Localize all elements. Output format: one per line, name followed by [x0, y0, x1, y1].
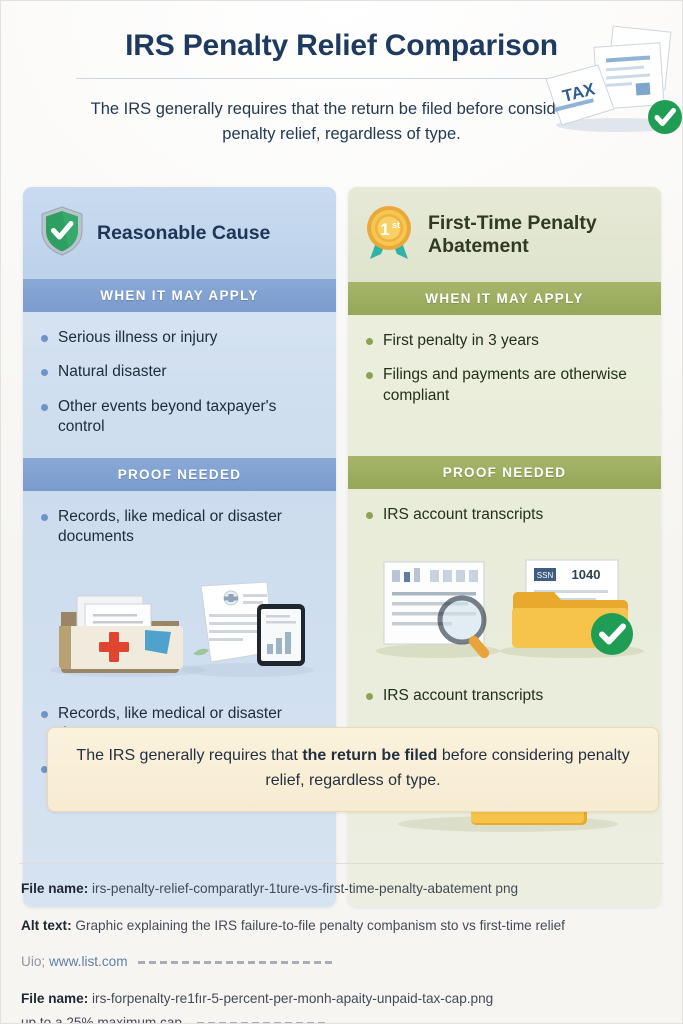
column-header-reasonable-cause: Reasonable Cause [23, 187, 336, 279]
list-proof-left-top: Records, like medical or disaster docume… [23, 491, 336, 568]
band-proof-needed-left: PROOF NEEDED [23, 458, 336, 491]
bullet-dot-icon [41, 404, 48, 411]
list-item-label: Filings and payments are otherwise compl… [383, 365, 643, 406]
page-title: IRS Penalty Relief Comparison [1, 29, 682, 64]
bullet-dot-icon [366, 693, 373, 700]
bullet-dot-icon [41, 711, 48, 718]
svg-text:1040: 1040 [572, 567, 601, 582]
list-item: First penalty in 3 years [366, 331, 643, 351]
file-name-value: irs-penalty-relief-comparatlyr-1ture-vs-… [92, 881, 518, 896]
band-when-it-may-apply-right: WHEN IT MAY APPLY [348, 282, 661, 315]
metadata-file-name-row-2: File name: irs-forpenalty-re1fır-5-perce… [21, 989, 662, 1024]
list-item: Records, like medical or disaster docume… [41, 507, 318, 548]
bullet-dot-icon [41, 369, 48, 376]
bullet-dot-icon [366, 512, 373, 519]
list-item: Other events beyond taxpayer's control [41, 397, 318, 438]
list-item: IRS account transcripts [366, 505, 643, 525]
header-subtitle: The IRS generally requires that the retu… [72, 97, 612, 148]
list-item-label: IRS account transcripts [383, 686, 543, 706]
alt-text-label: Alt text: [21, 918, 72, 933]
band-when-it-may-apply-left: WHEN IT MAY APPLY [23, 279, 336, 312]
band-proof-needed-right: PROOF NEEDED [348, 456, 661, 489]
medical-records-illustration [33, 570, 326, 678]
list-proof-right-top: IRS account transcripts [348, 489, 661, 545]
metadata-url-row: Uio; www.list.com [21, 952, 662, 972]
column-title-first-time-abatement: First-Time Penalty Abatement [428, 212, 647, 258]
column-title-reasonable-cause: Reasonable Cause [97, 222, 270, 245]
footer-divider [19, 863, 664, 864]
list-item-label: First penalty in 3 years [383, 331, 539, 351]
list-item-label: Natural disaster [58, 362, 167, 382]
redacted-dashes [138, 961, 334, 964]
callout-text-before: The IRS generally requires that [76, 747, 302, 764]
svg-text:SSN: SSN [537, 571, 554, 580]
infographic-header: IRS Penalty Relief Comparison The IRS ge… [1, 1, 682, 148]
first-place-ribbon-icon: 1 st [364, 203, 416, 266]
svg-text:1: 1 [380, 220, 389, 239]
bullet-dot-icon [41, 335, 48, 342]
alt-text-value: Graphic explaining the IRS failure-to-fi… [75, 918, 565, 933]
shield-check-icon [39, 205, 85, 262]
file-name-label-2: File name: [21, 991, 88, 1006]
column-header-first-time-abatement: 1 st First-Time Penalty Abatement [348, 187, 661, 282]
infographic-canvas: IRS Penalty Relief Comparison The IRS ge… [0, 0, 683, 1024]
file-name-label: File name: [21, 881, 88, 896]
list-item: Filings and payments are otherwise compl… [366, 365, 643, 406]
file-name-sub-2: up to a 25% maximum cap. [21, 1015, 186, 1024]
list-item-label: Serious illness or injury [58, 328, 217, 348]
metadata-alt-text-row: Alt text: Graphic explaining the IRS fai… [21, 916, 662, 936]
list-item: Natural disaster [41, 362, 318, 382]
url-label: Uio; [21, 954, 45, 969]
svg-text:st: st [392, 220, 400, 230]
transcript-folder-illustration: SSN 1040 [358, 548, 651, 660]
list-item-label: IRS account transcripts [383, 505, 543, 525]
callout-text-bold: the return be filed [302, 747, 437, 764]
metadata-block: File name: irs-penalty-relief-comparatly… [21, 879, 662, 1024]
list-when-apply-left: Serious illness or injury Natural disast… [23, 312, 336, 458]
bullet-dot-icon [366, 372, 373, 379]
list-item-label: Other events beyond taxpayer's control [58, 397, 318, 438]
list-item: IRS account transcripts [366, 686, 643, 706]
callout-box: The IRS generally requires that the retu… [47, 727, 659, 812]
list-proof-right-bottom: IRS account transcripts [348, 670, 661, 726]
file-name-sub-row-2: up to a 25% maximum cap. [21, 1013, 662, 1024]
bullet-dot-icon [366, 338, 373, 345]
url-value[interactable]: www.list.com [49, 954, 128, 969]
file-name-value-2: irs-forpenalty-re1fır-5-percent-per-monh… [92, 991, 493, 1006]
list-when-apply-right: First penalty in 3 years Filings and pay… [348, 315, 661, 426]
list-item-label: Records, like medical or disaster docume… [58, 507, 318, 548]
callout-text: The IRS generally requires that the retu… [70, 744, 636, 794]
title-divider [76, 78, 608, 79]
list-item: Serious illness or injury [41, 328, 318, 348]
bullet-dot-icon [41, 514, 48, 521]
metadata-file-name-row: File name: irs-penalty-relief-comparatly… [21, 879, 662, 899]
